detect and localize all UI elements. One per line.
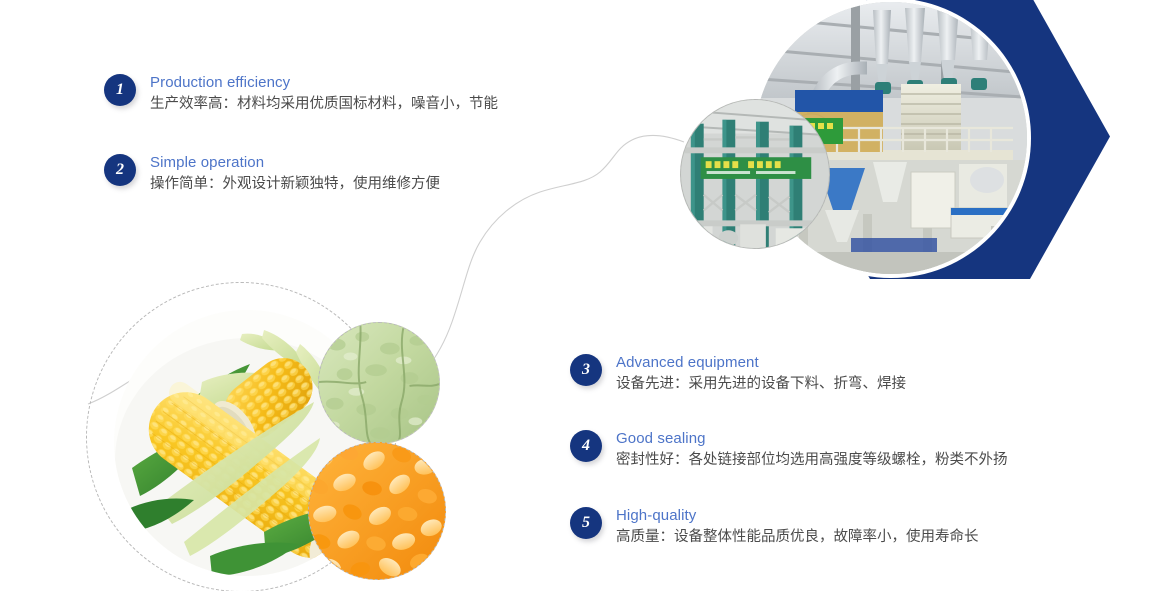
- corn-grits-photo: [308, 442, 446, 580]
- feature-body-5: 高质量：设备整体性能品质优良，故障率小，使用寿命长: [616, 527, 979, 549]
- infographic-canvas: 1 Production efficiency 生产效率高：材料均采用优质国标材…: [0, 0, 1154, 591]
- feature-text-1: Production efficiency 生产效率高：材料均采用优质国标材料，…: [150, 72, 498, 116]
- feature-badge-2: 2: [104, 154, 136, 186]
- mill-photo-small: [680, 99, 830, 249]
- feature-badge-3: 3: [570, 354, 602, 386]
- feature-body-4: 密封性好：各处链接部位均选用高强度等级螺栓，粉类不外扬: [616, 450, 1008, 472]
- feature-body-2: 操作简单：外观设计新颖独特，使用维修方便: [150, 174, 440, 196]
- feature-text-4: Good sealing 密封性好：各处链接部位均选用高强度等级螺栓，粉类不外扬: [616, 428, 1008, 472]
- feature-item-3[interactable]: 3 Advanced equipment 设备先进：采用先进的设备下料、折弯、焊…: [570, 352, 906, 396]
- feature-heading-4: Good sealing: [616, 429, 1008, 449]
- feature-text-3: Advanced equipment 设备先进：采用先进的设备下料、折弯、焊接: [616, 352, 906, 396]
- feature-item-1[interactable]: 1 Production efficiency 生产效率高：材料均采用优质国标材…: [104, 72, 498, 116]
- corn-photo-cluster: [86, 282, 476, 591]
- feature-badge-4: 4: [570, 430, 602, 462]
- feature-body-3: 设备先进：采用先进的设备下料、折弯、焊接: [616, 374, 906, 396]
- feature-text-5: High-quality 高质量：设备整体性能品质优良，故障率小，使用寿命长: [616, 505, 979, 549]
- feature-heading-5: High-quality: [616, 506, 979, 526]
- feature-item-5[interactable]: 5 High-quality 高质量：设备整体性能品质优良，故障率小，使用寿命长: [570, 505, 979, 549]
- feature-heading-3: Advanced equipment: [616, 353, 906, 373]
- feature-text-2: Simple operation 操作简单：外观设计新颖独特，使用维修方便: [150, 152, 440, 196]
- feature-body-1: 生产效率高：材料均采用优质国标材料，噪音小，节能: [150, 94, 498, 116]
- feature-badge-1: 1: [104, 74, 136, 106]
- feature-item-4[interactable]: 4 Good sealing 密封性好：各处链接部位均选用高强度等级螺栓，粉类不…: [570, 428, 1008, 472]
- mill-photo-cluster: [660, 0, 1154, 294]
- green-paste-photo: [318, 322, 440, 444]
- feature-badge-5: 5: [570, 507, 602, 539]
- feature-item-2[interactable]: 2 Simple operation 操作简单：外观设计新颖独特，使用维修方便: [104, 152, 440, 196]
- feature-heading-1: Production efficiency: [150, 73, 498, 93]
- feature-heading-2: Simple operation: [150, 153, 440, 173]
